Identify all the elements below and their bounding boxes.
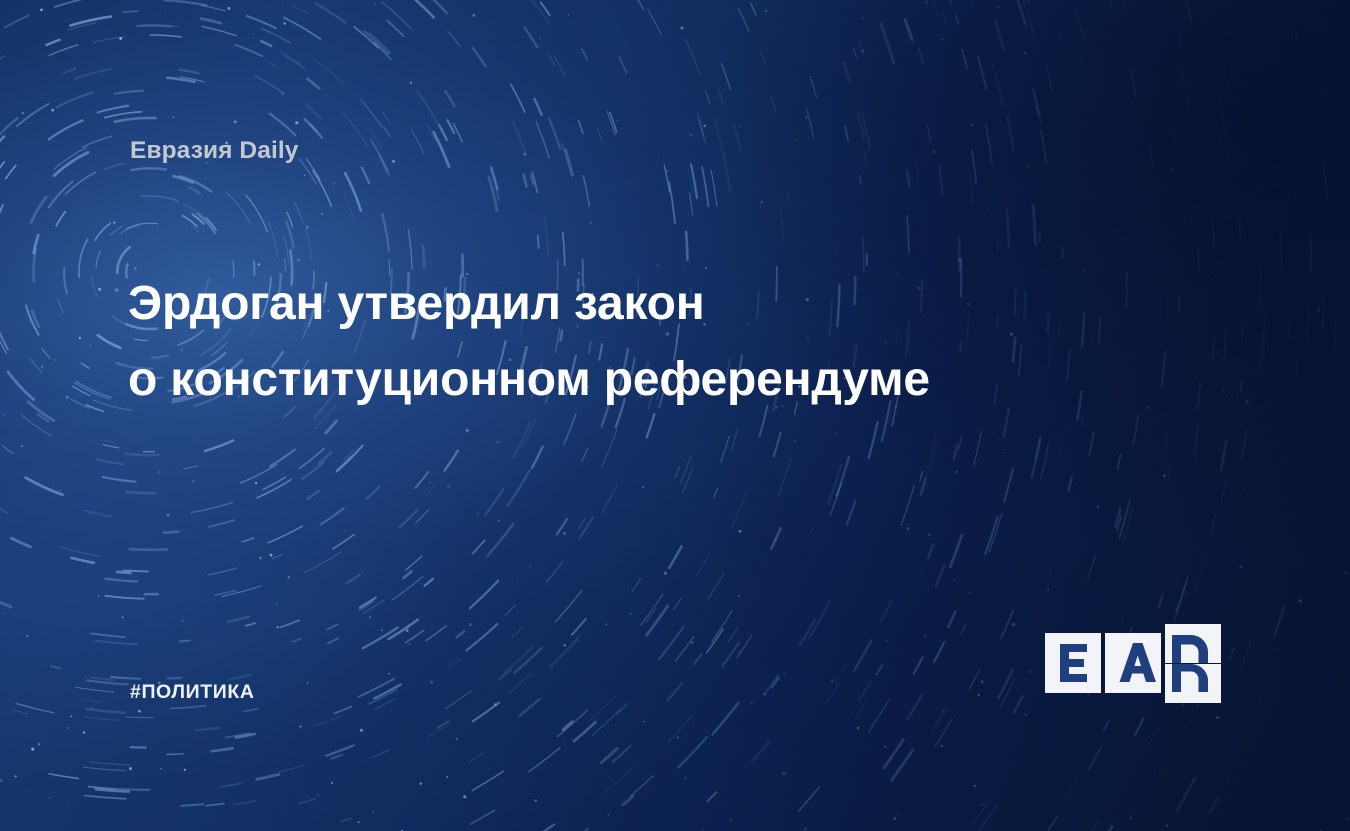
publisher-name: Евразия Daily <box>130 137 299 165</box>
logo-letter-e <box>1060 644 1087 682</box>
ead-logo[interactable] <box>1044 618 1224 710</box>
headline-line-2: о конституционном референдуме <box>128 342 1088 418</box>
category-hashtag[interactable]: #ПОЛИТИКА <box>130 681 255 704</box>
headline-line-1: Эрдоган утвердил закон <box>128 266 1088 342</box>
page-title: Эрдоган утвердил закон о конституционном… <box>128 266 1088 418</box>
social-share-card: Евразия Daily Эрдоган утвердил закон о к… <box>0 0 1350 831</box>
